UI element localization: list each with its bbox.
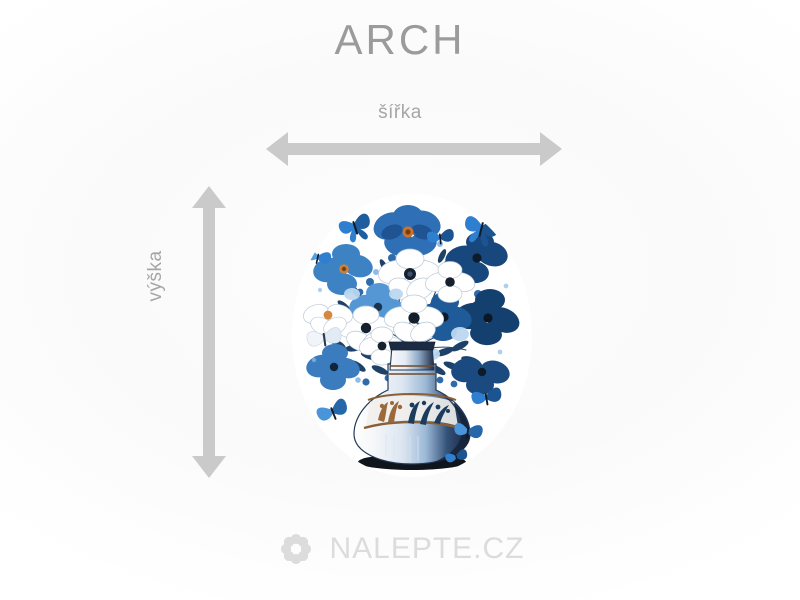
horizontal-double-arrow-icon bbox=[266, 130, 562, 168]
watermark: NALEPTE.CZ bbox=[0, 528, 800, 570]
height-dimension-label: výška bbox=[145, 206, 167, 346]
product-preview-canvas: ARCH šířka výška bbox=[0, 0, 800, 600]
vertical-double-arrow-icon bbox=[190, 186, 228, 478]
page-title: ARCH bbox=[0, 14, 800, 67]
width-dimension-label: šířka bbox=[0, 102, 800, 124]
floral-vase-artwork bbox=[292, 194, 532, 477]
product-image-disc[interactable] bbox=[292, 194, 532, 477]
watermark-text: NALEPTE.CZ bbox=[329, 534, 524, 564]
petal-circle-logo-icon bbox=[275, 528, 317, 570]
